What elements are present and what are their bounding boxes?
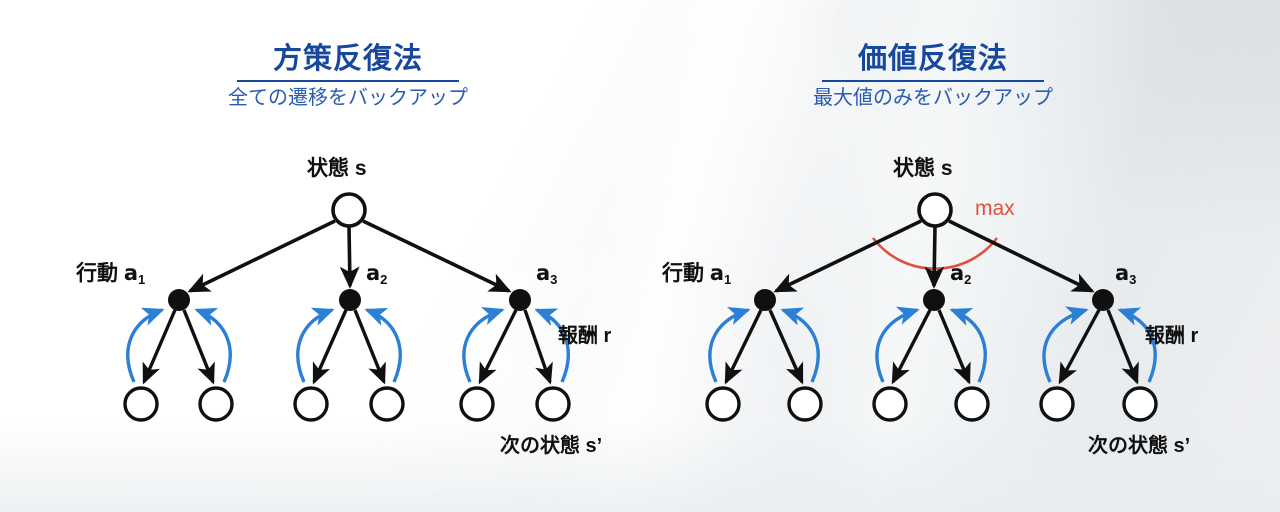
node-action-a3-right [1092, 289, 1114, 311]
root-to-action-edges-left [190, 221, 509, 291]
root-to-action-edges-right [776, 221, 1092, 291]
node-next-state-2-left [200, 388, 232, 420]
node-next-state-6-right [1124, 388, 1156, 420]
label-action-a1-subscript-right: 1 [724, 272, 731, 287]
node-next-state-4-right [956, 388, 988, 420]
node-next-state-6-left [537, 388, 569, 420]
backup-arrow-left-a2-r [367, 310, 400, 382]
label-action-a3-sym-right: a [1115, 261, 1129, 285]
edge-a2-s4-right [939, 310, 969, 382]
edge-a3-s5-right [1060, 310, 1099, 382]
edge-a2-s3-left [314, 310, 346, 382]
label-state-right: 状態 s [893, 158, 953, 179]
label-reward-left: 報酬 r [558, 326, 611, 346]
backup-arrow-left-a2-l [298, 310, 332, 382]
label-action-a1-subscript-left: 1 [138, 272, 145, 287]
label-action-a3-sym-left: a [536, 261, 550, 285]
node-next-state-1-left [125, 388, 157, 420]
label-max-right: max [975, 198, 1015, 219]
edge-a1-s2-right [770, 310, 802, 382]
label-action-a1-left: 行動 a1 [76, 263, 145, 284]
label-action-a3-subscript-right: 3 [1129, 272, 1136, 287]
action-to-leaf-edges-right [726, 310, 1137, 382]
node-next-state-4-left [371, 388, 403, 420]
edge-a2-s4-left [355, 310, 384, 382]
label-action-a2-subscript-right: 2 [964, 272, 971, 287]
label-action-a2-left: a2 [366, 263, 387, 284]
backup-arrow-right-a2-r [952, 310, 985, 382]
label-action-a1-sym-left: a [124, 261, 138, 285]
label-action-a1-sym-right: a [710, 261, 724, 285]
label-state-left: 状態 s [307, 158, 367, 179]
action-to-leaf-edges-left [144, 310, 550, 382]
label-action-a3-subscript-left: 3 [550, 272, 557, 287]
backup-arrows-right [710, 310, 1155, 382]
node-next-state-3-left [295, 388, 327, 420]
node-root-state-right [919, 194, 951, 226]
node-action-a2-right [923, 289, 945, 311]
node-next-state-5-left [461, 388, 493, 420]
label-next-state-right: 次の状態 s’ [1088, 436, 1190, 456]
edge-root-a2-right [934, 226, 935, 286]
edge-a3-s5-left [480, 310, 516, 382]
label-action-prefix-left: 行動 [76, 262, 124, 285]
edge-root-a1-right [776, 221, 921, 291]
node-action-a1-left [168, 289, 190, 311]
node-next-state-1-right [707, 388, 739, 420]
edge-a1-s1-left [144, 310, 175, 382]
edge-a1-s2-left [184, 310, 213, 382]
node-root-state-left [333, 194, 365, 226]
edge-a1-s1-right [726, 310, 761, 382]
label-action-a3-right: a3 [1115, 263, 1136, 284]
edge-root-a2-left [349, 226, 350, 286]
backup-arrow-right-a1-r [783, 310, 818, 382]
node-action-a2-left [339, 289, 361, 311]
node-action-a1-right [754, 289, 776, 311]
node-next-state-3-right [874, 388, 906, 420]
backup-arrows-left [128, 310, 568, 382]
edge-a2-s3-right [893, 310, 930, 382]
edge-a3-s6-right [1108, 310, 1137, 382]
label-action-a1-right: 行動 a1 [662, 263, 731, 284]
edge-root-a1-left [190, 221, 335, 291]
backup-arrow-left-a1-r [197, 310, 230, 382]
label-action-a2-right: a2 [950, 263, 971, 284]
node-next-state-5-right [1041, 388, 1073, 420]
node-action-a3-left [509, 289, 531, 311]
edge-a3-s6-left [525, 310, 550, 382]
label-action-a3-left: a3 [536, 263, 557, 284]
label-next-state-left: 次の状態 s’ [500, 436, 602, 456]
tree-value-iteration [707, 194, 1156, 420]
tree-policy-iteration [125, 194, 569, 420]
label-reward-right: 報酬 r [1145, 326, 1198, 346]
backup-arrow-left-a1-l [128, 310, 162, 382]
label-action-a2-sym-right: a [950, 261, 964, 285]
label-action-a2-sym-left: a [366, 261, 380, 285]
node-next-state-2-right [789, 388, 821, 420]
diagram-canvas: 方策反復法 全ての遷移をバックアップ 価値反復法 最大値のみをバックアップ [0, 0, 1280, 512]
label-action-a2-subscript-left: 2 [380, 272, 387, 287]
label-action-prefix-right: 行動 [662, 262, 710, 285]
